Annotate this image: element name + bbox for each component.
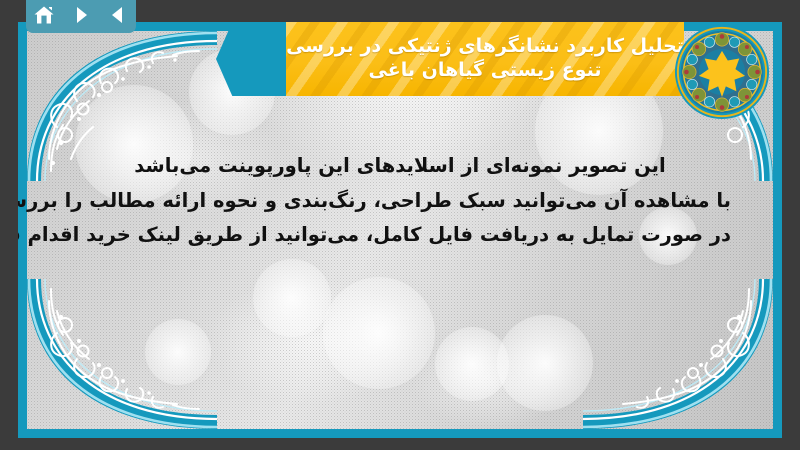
home-button[interactable] xyxy=(31,2,57,28)
bokeh-circle xyxy=(189,49,275,135)
body-line-3: در صورت تمایل به دریافت فایل کامل، می‌تو… xyxy=(69,218,731,253)
navigation-bar xyxy=(26,0,136,33)
slide-canvas: این تصویر نمونه‌ای از اسلایدهای این پاور… xyxy=(18,22,782,438)
next-slide-button[interactable] xyxy=(68,2,94,28)
bokeh-circle xyxy=(497,315,593,411)
triangle-right-icon xyxy=(71,5,91,25)
triangle-left-icon xyxy=(108,5,128,25)
slide-title-banner: تحلیل کاربرد نشانگرهای ژنتیکی در بررسی ت… xyxy=(286,22,684,96)
previous-slide-button[interactable] xyxy=(105,2,131,28)
bokeh-circle xyxy=(435,327,509,401)
body-line-1: این تصویر نمونه‌ای از اسلایدهای این پاور… xyxy=(69,149,731,184)
slide-body-text: این تصویر نمونه‌ای از اسلایدهای این پاور… xyxy=(69,149,731,253)
slide-viewer: این تصویر نمونه‌ای از اسلایدهای این پاور… xyxy=(0,0,800,450)
title-line-2: تنوع زیستی گیاهان باغی xyxy=(369,60,602,82)
corner-ornament-bottom-left xyxy=(27,279,217,429)
corner-ornament-bottom-right xyxy=(583,279,773,429)
bokeh-circle xyxy=(253,259,331,337)
bokeh-circle xyxy=(323,277,435,389)
home-icon xyxy=(33,5,55,25)
title-line-1: تحلیل کاربرد نشانگرهای ژنتیکی در بررسی xyxy=(286,36,684,58)
ornamental-medallion xyxy=(674,24,770,120)
body-line-2: با مشاهده آن می‌توانید سبک طراحی، رنگ‌بن… xyxy=(69,184,731,219)
bokeh-circle xyxy=(145,319,211,385)
